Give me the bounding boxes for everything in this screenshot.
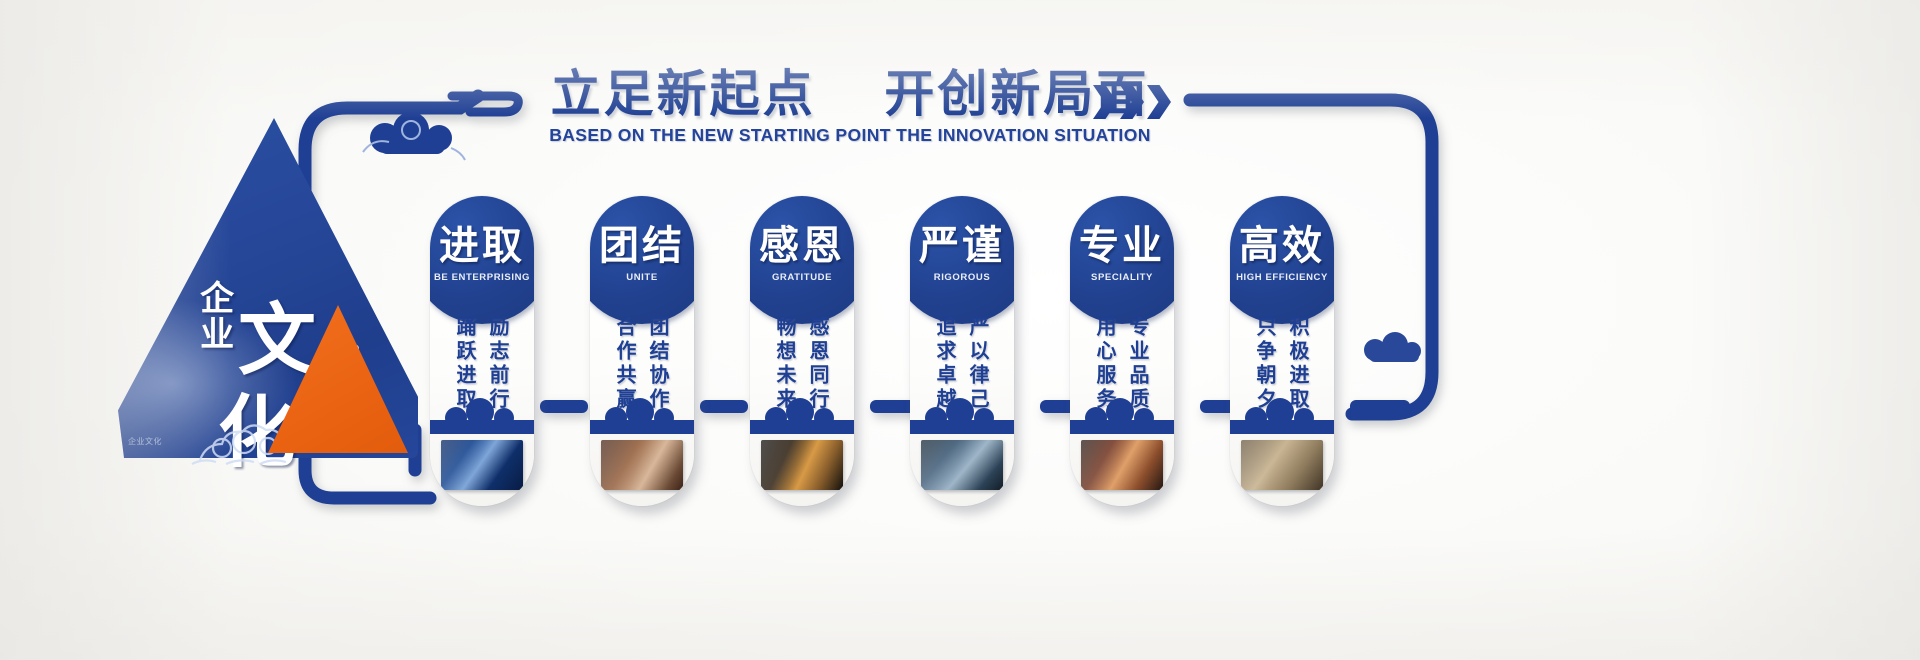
value-badge-circle: 高效HIGH EFFICIENCY	[1230, 196, 1334, 324]
pill-cloud-divider-icon	[1070, 398, 1174, 434]
pill-cloud-divider-icon	[910, 398, 1014, 434]
right-cloud-icon	[1355, 330, 1425, 370]
pocket-watch-photo	[1241, 440, 1323, 490]
emblem-watermark: 企业文化	[128, 436, 162, 447]
pill-cloud-divider-icon	[750, 398, 854, 434]
value-pill: 感恩GRATITUDE感恩同行畅想未来	[750, 196, 854, 506]
value-badge-cn: 感恩	[759, 226, 845, 266]
value-badge-cn: 专业	[1079, 226, 1165, 266]
sunrise-figure-photo	[761, 440, 843, 490]
value-badge-circle: 专业SPECIALITY	[1070, 196, 1174, 324]
handshake-photo	[601, 440, 683, 490]
chevron-right-icon	[1147, 85, 1171, 119]
value-badge-en: BE ENTERPRISING	[434, 272, 530, 283]
emblem-cn-small: 企业	[196, 280, 231, 352]
value-badge-circle: 严谨RIGOROUS	[910, 196, 1014, 324]
value-badge-en: SPECIALITY	[1091, 272, 1153, 283]
photo-glint	[921, 440, 1003, 490]
chevron-right-icon	[1093, 85, 1117, 119]
climbing-photo	[441, 440, 523, 490]
value-pill: 专业SPECIALITY专业品质用心服务	[1070, 196, 1174, 506]
value-badge-cn: 严谨	[919, 226, 1005, 266]
value-badge-circle: 感恩GRATITUDE	[750, 196, 854, 324]
value-pill: 进取BE ENTERPRISING励志前行踊跃进取	[430, 196, 534, 506]
pill-cloud-divider-icon	[1230, 398, 1334, 434]
value-badge-en: RIGOROUS	[934, 272, 991, 283]
value-badge-cn: 团结	[599, 226, 685, 266]
photo-glint	[1241, 440, 1323, 490]
culture-wall-stage: 企业 文 化 COMPANY CULTURE 企业文化	[0, 0, 1920, 660]
headline-en: BASED ON THE NEW STARTING POINT THE INNO…	[540, 125, 1160, 146]
headline-cloud-icon	[355, 108, 473, 164]
headline-block: 立足新起点 开创新局面 BASED ON THE NEW STARTING PO…	[540, 68, 1160, 146]
value-pill: 严谨RIGOROUS严以律己追求卓越	[910, 196, 1014, 506]
pill-cloud-divider-icon	[590, 398, 694, 434]
headline-cn: 立足新起点 开创新局面	[540, 68, 1160, 121]
value-badge-circle: 进取BE ENTERPRISING	[430, 196, 534, 324]
pill-cloud-divider-icon	[430, 398, 534, 434]
headline-cn-part-1: 立足新起点	[551, 65, 816, 123]
photo-glint	[1081, 440, 1163, 490]
chevron-arrow-group	[1093, 85, 1171, 119]
value-pill: 团结UNITE团结协作合作共赢	[590, 196, 694, 506]
photo-glint	[601, 440, 683, 490]
photo-glint	[441, 440, 523, 490]
value-badge-en: GRATITUDE	[772, 272, 832, 283]
value-badge-cn: 高效	[1239, 226, 1325, 266]
value-badge-en: UNITE	[626, 272, 658, 283]
photo-glint	[761, 440, 843, 490]
value-badge-circle: 团结UNITE	[590, 196, 694, 324]
eagle-photo	[921, 440, 1003, 490]
value-badge-cn: 进取	[439, 226, 525, 266]
value-pill: 高效HIGH EFFICIENCY积极进取只争朝夕	[1230, 196, 1334, 506]
runner-track-photo	[1081, 440, 1163, 490]
chevron-right-icon	[1120, 85, 1144, 119]
value-badge-en: HIGH EFFICIENCY	[1236, 272, 1328, 283]
